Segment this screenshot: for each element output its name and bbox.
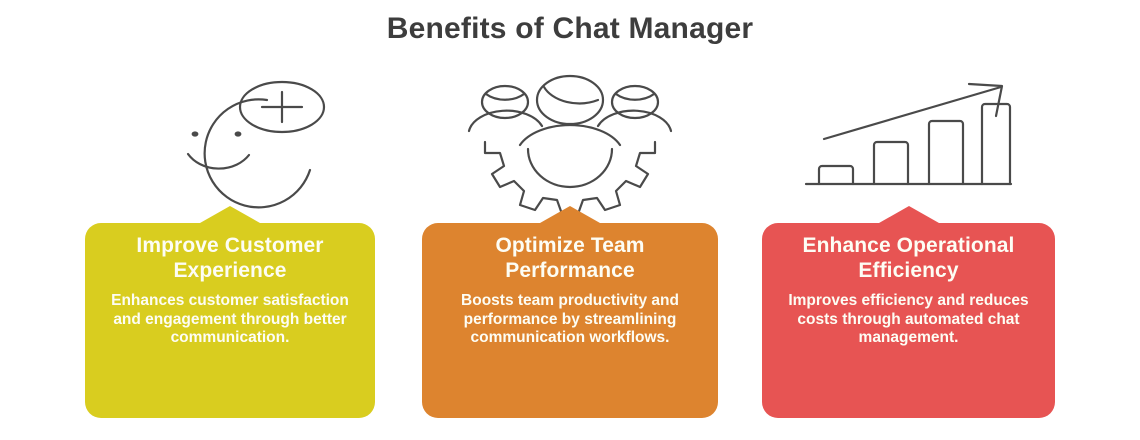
benefit-card-1: Improve Customer Experience Enhances cus… bbox=[85, 206, 375, 418]
card-3-heading: Enhance Operational Efficiency bbox=[780, 234, 1037, 283]
card-1-heading: Improve Customer Experience bbox=[103, 234, 357, 283]
card-1-content: Improve Customer Experience Enhances cus… bbox=[85, 222, 375, 348]
card-3-body: Improves efficiency and reduces costs th… bbox=[780, 292, 1037, 348]
card-1-body: Enhances customer satisfaction and engag… bbox=[103, 292, 357, 348]
card-2-heading: Optimize Team Performance bbox=[440, 234, 700, 283]
smiley-face-plus-icon bbox=[60, 70, 400, 200]
card-2-body: Boosts team productivity and performance… bbox=[440, 292, 700, 348]
card-2-content: Optimize Team Performance Boosts team pr… bbox=[422, 222, 718, 348]
card-3-content: Enhance Operational Efficiency Improves … bbox=[762, 222, 1055, 348]
benefit-card-2: Optimize Team Performance Boosts team pr… bbox=[422, 206, 718, 418]
benefit-card-3: Enhance Operational Efficiency Improves … bbox=[762, 206, 1055, 418]
growth-bar-chart-arrow-icon bbox=[738, 70, 1078, 200]
benefit-column-2: Optimize Team Performance Boosts team pr… bbox=[400, 0, 740, 440]
benefit-column-3: Enhance Operational Efficiency Improves … bbox=[738, 0, 1078, 440]
team-gear-icon bbox=[400, 70, 740, 200]
benefit-column-1: Improve Customer Experience Enhances cus… bbox=[60, 0, 400, 440]
infographic-root: Benefits of Chat Manager bbox=[0, 0, 1140, 440]
